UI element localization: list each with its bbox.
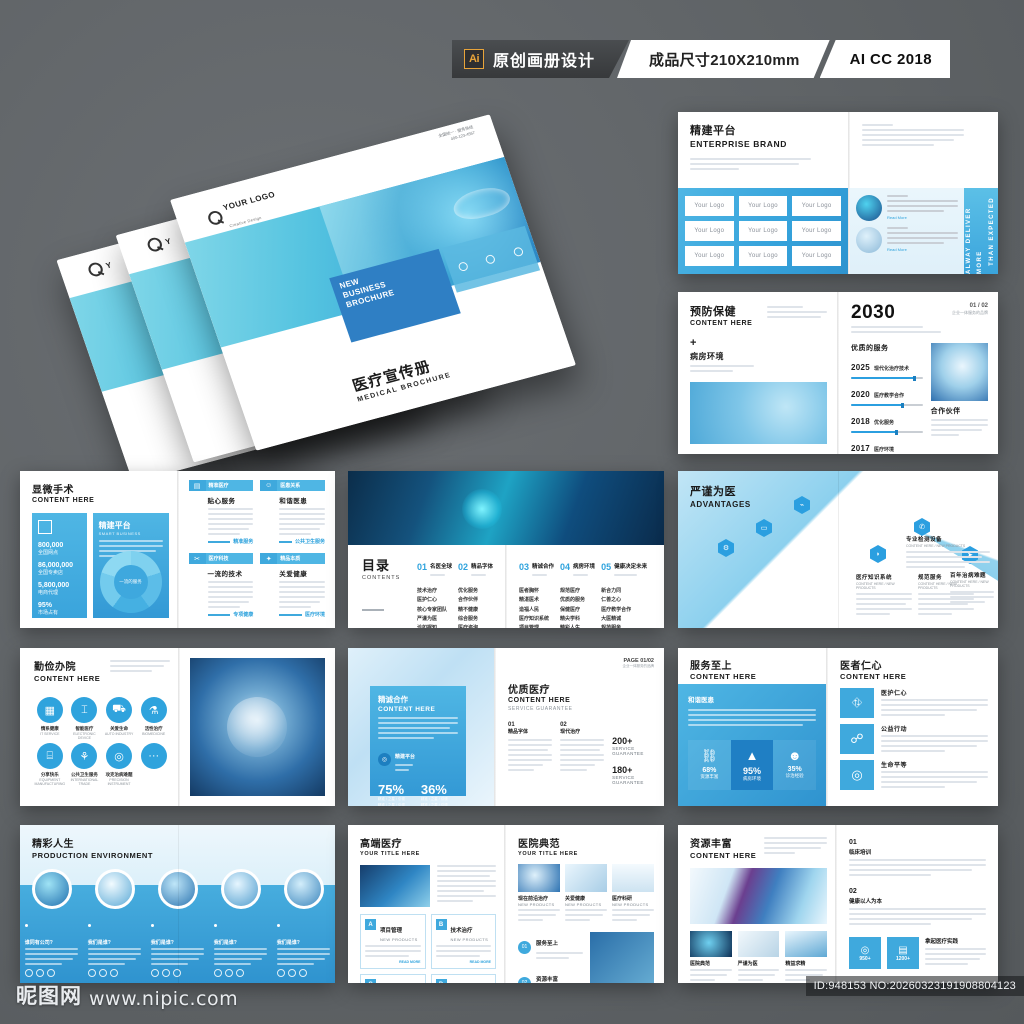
service-subhead: 和谐医患 [688,694,816,704]
side-text-line2: THAN EXPECTED [987,197,998,266]
card-title: 一流的技术 [208,568,254,578]
doctor-photo [590,932,655,983]
ribbon-original-design: Ai 原创画册设计 [452,40,629,78]
target-icon: ◎ [840,760,874,790]
env-card: 我们是谁? [88,924,142,977]
contents-title-en: CONTENTS [362,575,408,581]
logo-cell: Your Logo [792,221,841,241]
contents-item[interactable]: 精彩人生 [560,624,595,628]
logo-grid: Your Logo Your Logo Your Logo Your Logo … [685,196,841,266]
lettered-card: C 平等医疗NEW PRODUCTS READ MORE [360,974,426,983]
section-number: 05 [601,562,611,572]
speak-icon: ☍ [840,724,874,754]
frugal-title-cn: 勤俭办院 [34,658,100,673]
quality-title-en: CONTENT HERE [508,697,654,704]
kpi-item: ▲ 95% 病房环境 [731,740,774,790]
card-tag: 精品本质 [277,553,325,564]
icon-item: ⚗活性治疗BIOMEDICINE [138,697,170,740]
contents-item[interactable]: 医疗教学合作 [601,606,647,615]
timeline-row: 2025现代化治疗技术 [851,357,923,379]
read-more-link[interactable]: Read More [887,215,958,220]
spread-enterprise-brand: 精建平台 ENTERPRISE BRAND Your Logo Your Log… [678,112,998,274]
overlay-title-en: CONTENT HERE [378,706,458,713]
card-icon: ✦ [260,553,277,564]
watermark-site-cn: 昵图网 [16,980,82,1010]
ribbon-original-label: 原创画册设计 [493,47,595,71]
section-number: 03 [519,562,529,572]
circle-photo [221,869,261,909]
stat-block: 36% 精准 / 之星 / 引领精准 / 之星 / 引领 [421,782,448,806]
lettered-card: D 公益行动NEW PRODUCTS READ MORE [431,974,497,983]
advantages-title-en: ADVANTAGES [690,500,751,509]
feature-sub: CONTENT HERE / NEW PRODUCTS [950,580,994,588]
donut-chart: 一流的服务 [100,551,162,613]
list-item: ◎ 生命平等 [840,760,988,791]
timeline-row: 2017医疗环境 [851,438,923,454]
contents-item[interactable]: 精尖学科 [560,615,595,624]
chip-icon: ▦ [37,697,63,723]
signal-icon: ◎ [106,743,132,769]
info-card: ✦ 精品本质 关爱健康 医疗环境 [260,553,325,619]
section-number: 01 [417,562,427,572]
board-icon: ▤1200+ [887,937,919,969]
kpi-item: ⛓ 68% 资源丰富 [688,740,731,790]
partner-title: 合作伙伴 [931,406,988,416]
feature-sub: CONTENT HERE / NEW PRODUCTS [856,582,912,590]
env-card: 我们是谁? [277,924,331,977]
quality-col: 02 现代治疗 [560,722,604,785]
counters: 200+ SERVICE GUARANTEE 180+ SERVICE GUAR… [612,722,654,785]
enterprise-title-en: ENTERPRISE BRAND [690,139,838,149]
lettered-card: B 技术治疗NEW PRODUCTS READ MORE [431,914,497,969]
doctor-heart-title-cn: 医者仁心 [840,657,988,672]
contents-hero-image [348,471,664,545]
side-text-line1: ALWAY DELIVER MORE [964,188,986,274]
thumb-item: 现在前沿治疗 NEW PRODUCTS [518,864,560,924]
page-sub: 企业一体服务的品牌 [952,310,988,316]
production-title-cn: 精彩人生 [32,835,153,850]
user-icon: ☻ [773,748,816,763]
timeline-row: 2018优化服务 [851,411,923,433]
enterprise-title-cn: 精建平台 [690,122,838,138]
contents-item[interactable]: 综合服务 [458,615,493,624]
spread-quality-medical: 精诚合作 CONTENT HERE ◎ 精建平台 75% 精准 / 之星 / 引… [348,648,664,806]
logo-cell: Your Logo [739,221,788,241]
quality-title-en2: SERVICE GUARANTEE [508,706,654,712]
resources-hero-image [690,868,827,924]
contents-item[interactable]: 诊如据知 [417,624,452,628]
info-card: ✂ 医疗科技 一流的技术 专项健康 [189,553,254,619]
read-more-link[interactable]: READ MORE [365,960,421,964]
logo-cell: Your Logo [739,196,788,216]
stat-value: 5,800,000 [38,582,81,589]
card-title: 和谐医患 [279,495,325,505]
spread-high-end-medical: 高端医疗 YOUR TITLE HERE A 项目管理NEW PRODUCTS … [348,825,664,983]
header-ribbons: Ai 原创画册设计 成品尺寸210X210mm AI CC 2018 [452,40,950,78]
people-icon: ⚘ [71,743,97,769]
icon-item: ⚘公共卫生服务INTERNATIONAL TRADE [69,743,101,786]
watermark-url: www.nipic.com [89,988,238,1010]
spread-frugal-hospital: 勤俭办院 CONTENT HERE ▦情系健康IT SERVICE ⌶智能医疗E… [20,648,335,806]
more-icon[interactable]: ··· [141,743,167,769]
spread-micro-surgery: 显微手术 CONTENT HERE 800,000 全国网点 86,000,00… [20,471,335,628]
icon-item: ⌸分享快乐EQUIPMENT MANUFACTURING [34,743,66,786]
section-head: 精诚合作 [532,564,554,570]
spread-contents: 目录 CONTENTS 01 名医全球 技术治疗 医护仁心 [348,471,664,628]
contents-section: 02 精品字体 优化服务 合作伙伴 精不健康 综合服务 医疗咨询 规范管理 [458,555,493,628]
advantages-title-cn: 严谨为医 [690,483,751,499]
section-label: 优质的服务 [851,343,923,353]
card-title: 贴心服务 [208,495,254,505]
quality-title-cn: 优质医疗 [508,681,654,696]
ribbon-version-label: AI CC 2018 [820,40,950,78]
spread-advantages: 严谨为医 ADVANTAGES ⚙ ▭ ⌁ ◗ ✆ ➤ 专业检测设备 CONTE… [678,471,998,628]
network-icon: ⛓ [688,748,731,764]
card-icon: ✂ [189,553,206,564]
service-title-en: CONTENT HERE [690,672,816,681]
factory-icon: ⌸ [37,743,63,769]
lettered-card: A 项目管理NEW PRODUCTS READ MORE [360,914,426,969]
logo-cell: Your Logo [792,246,841,266]
car-icon: ⛟ [106,697,132,723]
resources-title-en: CONTENT HERE [690,851,756,860]
list-item: 01 服务至上 [518,932,583,962]
dna-image [190,658,326,796]
list-item: ⛗ 医护仁心 [840,688,988,719]
contents-section: 04 病房环境 规范医疗 优质的服务 保健医疗 精尖学科 精彩人生 关注技术 [560,555,595,628]
contents-section: 05 健康决定未来 新合力同 仁善之心 医疗教学合作 大医精诚 规范服务 百年老… [601,555,647,628]
section-number: 04 [560,562,570,572]
device-icon: ⌶ [71,697,97,723]
spread-service-first: 服务至上 CONTENT HERE 和谐医患 ⛓ 68% 资源丰富 ▲ [678,648,998,806]
contents-item[interactable]: 精不健康 [458,606,493,615]
stat-value: 86,000,000 [38,562,81,569]
stat-label: 全国专卖店 [38,569,81,576]
card-foot: 专项健康 [233,611,253,618]
info-card: ▤ 精准医疗 贴心服务 精准服务 [189,480,254,546]
contents-item[interactable]: 精湛医术 [519,596,554,605]
stat-value: 95% [38,602,81,609]
card-icon: ▤ [189,480,206,491]
cover-icon-2 [485,254,497,265]
kpi-item: ☻ 35% 诊治经验 [773,740,816,790]
circle-photo [32,869,72,909]
feature-title: 百年治病难题 [950,571,994,579]
flask-icon: ⚗ [141,697,167,723]
note-item: 01 临床培训 [849,839,986,876]
circle-photo [284,869,324,909]
overlay-title-cn: 精诚合作 [378,694,458,705]
sitemap-icon: ⛗ [840,688,874,718]
page-number: 01 / 02 [952,303,988,309]
contents-item[interactable]: 优质的服务 [560,596,595,605]
prevention-plus-heading: 病房环境 [690,351,827,362]
icon-item: ⛟关爱生命AUTO INDUSTRY [103,697,135,740]
rocket-icon: ▲ [731,748,774,763]
spread-prevention-2030: 预防保健 CONTENT HERE + 病房环境 [678,292,998,454]
card-title: 关爱健康 [279,568,325,578]
micro-title-cn: 显微手术 [32,481,169,496]
cover-phone: 全国统一 · 服务热线 400-123-4567 [438,125,476,146]
card-icon: ☺ [260,480,277,491]
resources-title-cn: 资源丰富 [690,835,756,850]
quality-col: 01 精品字体 [508,722,552,785]
watermark: 昵图网 www.nipic.com [16,980,238,1010]
ai-icon: Ai [464,49,484,69]
scan-icon: ◎950+ [849,937,881,969]
timeline-row: 2020医疗教学合作 [851,384,923,406]
thumb-item: 关爱健康 NEW PRODUCTS [565,864,607,924]
feature-title: 专业检测设备 [906,535,990,543]
donut-title-en: SMART BUSINESS [99,531,163,536]
card-tag: 精准医疗 [206,480,254,491]
list-item: 02 资源丰富 [518,968,583,983]
doctor-heart-title-en: CONTENT HERE [840,672,988,681]
thumb-item: 医院典范 [690,931,732,983]
circle-photo [95,869,135,909]
contents-item[interactable]: 技术治疗 [417,587,452,596]
icon-item: ··· [138,743,170,786]
logo-mark-icon [206,209,224,226]
page-sub: 企业一体服务的品牌 [508,664,654,669]
stat-label: 全国网点 [38,549,81,556]
screenshot-canvas: Ai 原创画册设计 成品尺寸210X210mm AI CC 2018 NEWBU… [0,0,1024,1024]
contents-item[interactable]: 优化服务 [458,587,493,596]
service-title-cn: 服务至上 [690,657,816,672]
model-hospital-title-cn: 医院典范 [518,835,654,850]
contents-item[interactable]: 医疗知识系统 [519,615,554,624]
read-more-link[interactable]: READ MORE [436,960,492,964]
chart-icon [38,520,52,534]
logo-cell: Your Logo [685,196,734,216]
contents-item[interactable]: 严谨为医 [417,615,452,624]
stat-block: 75% 精准 / 之星 / 引领精准 / 之星 / 引领精准 / 之星 / 引领 [378,782,405,806]
card-tag: 医患关系 [277,480,325,491]
read-more-link[interactable]: Read More [887,247,958,252]
card-foot: 公共卫生服务 [295,538,325,545]
contents-item[interactable]: 仁善之心 [601,596,647,605]
image-id-badge: ID:948153 NO:20260323191908804123 [806,976,1024,996]
contents-item[interactable]: 规范服务 [601,624,647,628]
contents-section: 01 名医全球 技术治疗 医护仁心 核心专家团队 严谨为医 诊如据知 核心竞争力 [417,555,452,628]
card-foot: 精准服务 [233,538,253,545]
cover-icon-1 [457,261,469,272]
frugal-title-en: CONTENT HERE [34,674,100,683]
ribbon-size-label: 成品尺寸210X210mm [617,40,830,78]
stat-label: 电商代理 [38,589,81,596]
contents-item[interactable]: 新合力同 [601,587,647,596]
logo-cell: Your Logo [685,246,734,266]
contents-item[interactable]: 保健医疗 [560,606,595,615]
logo-cell: Your Logo [739,246,788,266]
highend-photo [360,865,430,907]
contents-item[interactable]: 核心专家团队 [417,606,452,615]
production-title-en: PRODUCTION ENVIRONMENT [32,851,153,860]
contents-title-cn: 目录 [362,555,408,574]
year-big: 2030 [851,303,941,322]
env-card: 谁同有公司? [25,924,79,977]
prevention-title-cn: 预防保健 [690,303,752,319]
highend-title-en: YOUR TITLE HERE [360,851,496,857]
donut-center-label: 一流的服务 [114,565,148,599]
contents-item[interactable]: 大医精诚 [601,615,647,624]
icon-item: ⌶智能医疗ELECTRONIC DEVICE [69,697,101,740]
cover-logo-title: YOUR LOGO [222,189,277,211]
contents-item[interactable]: 规范医疗 [560,587,595,596]
donut-title-cn: 精建平台 [99,520,163,531]
spread-rich-resources: 资源丰富 CONTENT HERE 医院典范 严谨为医 [678,825,998,983]
prevention-title-en: CONTENT HERE [690,320,752,327]
stat-label: 市场占有 [38,609,81,616]
list-item: ☍ 公益行动 [840,724,988,755]
section-head: 精品字体 [471,564,493,570]
model-hospital-title-en: YOUR TITLE HERE [518,851,654,857]
card-foot: 医疗环境 [305,611,325,618]
section-head: 名医全球 [430,564,452,570]
env-card: 我们是谁? [214,924,268,977]
logo-cell: Your Logo [792,196,841,216]
cover-title: 医疗宣传册 MEDICAL BROCHURE [350,351,453,403]
feature-sub: CONTENT HERE / NEW PRODUCTS [906,544,990,548]
section-head: 健康决定未来 [614,564,647,570]
logo-cell: Your Logo [685,221,734,241]
info-card: ☺ 医患关系 和谐医患 公共卫生服务 [260,480,325,546]
book-mockup: NEWBUSINESSBROCHURE Y 医疗MEDI NEWBUSINESS… [80,95,620,475]
contents-item[interactable]: 合作伙伴 [458,596,493,605]
contents-item[interactable]: 造福人民 [519,606,554,615]
highend-title-cn: 高端医疗 [360,835,496,850]
icon-item: ◎攻克治病难题PRECISION INSTRUMENT [103,743,135,786]
contents-item[interactable]: 医护仁心 [417,596,452,605]
note-item: 02 健康以人为本 [849,888,986,925]
contents-section: 03 精诚合作 医者胸怀 精湛医术 造福人民 医疗知识系统 项目管理 恪守职业道… [519,555,554,628]
contents-item[interactable]: 医疗咨询 [458,624,493,628]
cover-icon-3 [512,246,524,257]
micro-title-en: CONTENT HERE [32,497,169,504]
contents-item[interactable]: 项目管理 [519,624,554,628]
contents-item[interactable]: 医者胸怀 [519,587,554,596]
stat-value: 800,000 [38,542,81,549]
thumb-item: 严谨为医 [738,931,780,983]
card-tag: 医疗科技 [206,553,254,564]
spread-production-environment: 精彩人生 PRODUCTION ENVIRONMENT 谁同有公司? 我们是谁? [20,825,335,983]
icon-item: ▦情系健康IT SERVICE [34,697,66,740]
thumb-item: 医疗科研 NEW PRODUCTS [612,864,654,924]
feature-title: 医疗知识系统 [856,573,912,581]
section-number: 02 [458,562,468,572]
section-head: 病房环境 [573,564,595,570]
badge-icon: ◎ [378,753,391,766]
